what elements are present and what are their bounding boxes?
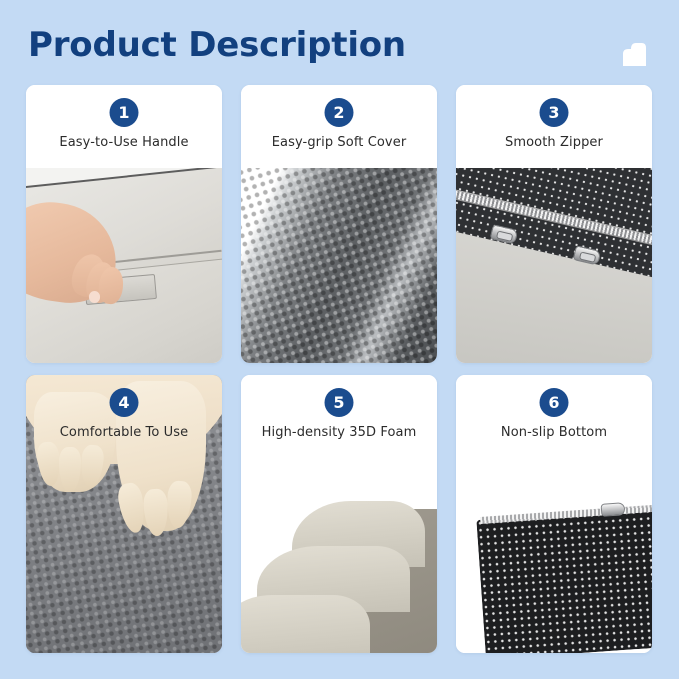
- feature-card-6[interactable]: 6 Non-slip Bottom: [456, 375, 652, 653]
- feature-header-3: 3 Smooth Zipper: [456, 85, 652, 168]
- page-header: Product Description: [0, 0, 679, 82]
- feature-header-4: 4 Comfortable To Use: [26, 375, 222, 458]
- feature-label-6: Non-slip Bottom: [456, 425, 652, 440]
- feature-label-4: Comfortable To Use: [26, 425, 222, 440]
- feature-image-6: [456, 458, 652, 653]
- feature-label-5: High-density 35D Foam: [241, 425, 437, 440]
- feature-label-2: Easy-grip Soft Cover: [241, 135, 437, 150]
- feature-card-1[interactable]: 1 Easy-to-Use Handle: [26, 85, 222, 363]
- feature-badge-6: 6: [540, 388, 569, 417]
- feature-card-grid: 1 Easy-to-Use Handle 2 Easy-grip Soft Co…: [26, 85, 653, 653]
- feature-card-5[interactable]: 5 High-density 35D Foam: [241, 375, 437, 653]
- feature-badge-5: 5: [325, 388, 354, 417]
- feature-badge-1: 1: [110, 98, 139, 127]
- feature-image-1: [26, 168, 222, 363]
- feature-image-2: [241, 168, 437, 363]
- feature-label-1: Easy-to-Use Handle: [26, 135, 222, 150]
- pet-stairs-icon: [620, 41, 648, 67]
- feature-header-2: 2 Easy-grip Soft Cover: [241, 85, 437, 168]
- feature-badge-3: 3: [540, 98, 569, 127]
- feature-card-4[interactable]: 4 Comfortable To Use: [26, 375, 222, 653]
- feature-header-1: 1 Easy-to-Use Handle: [26, 85, 222, 168]
- feature-badge-2: 2: [325, 98, 354, 127]
- feature-label-3: Smooth Zipper: [456, 135, 652, 150]
- feature-header-6: 6 Non-slip Bottom: [456, 375, 652, 458]
- feature-badge-4: 4: [110, 388, 139, 417]
- feature-card-2[interactable]: 2 Easy-grip Soft Cover: [241, 85, 437, 363]
- page-title: Product Description: [28, 25, 406, 65]
- feature-card-3[interactable]: 3 Smooth Zipper: [456, 85, 652, 363]
- feature-header-5: 5 High-density 35D Foam: [241, 375, 437, 458]
- feature-image-3: [456, 168, 652, 363]
- feature-image-5: [241, 458, 437, 653]
